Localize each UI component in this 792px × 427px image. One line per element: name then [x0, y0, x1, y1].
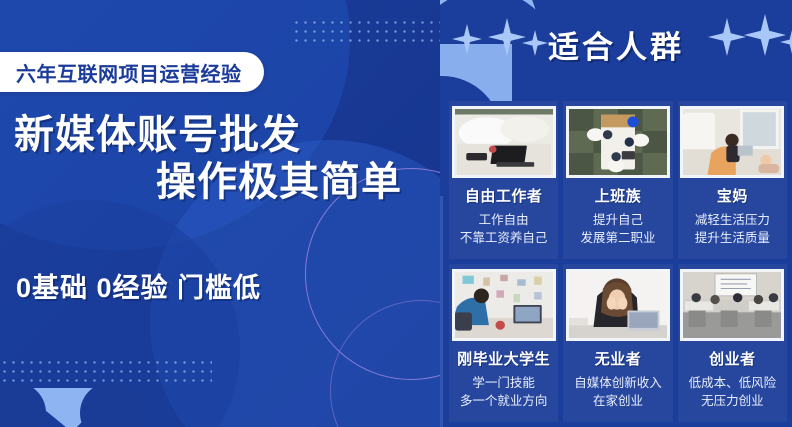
- left-panel: 六年互联网项目运营经验 新媒体账号批发 操作极其简单 0基础 0经验 门槛低: [0, 0, 440, 427]
- headline-line-1: 新媒体账号批发: [14, 112, 424, 159]
- card-description: 自媒体创新收入 在家创业: [574, 374, 662, 410]
- card-thumbnail-image: [680, 106, 784, 178]
- card-thumbnail-image: [452, 269, 556, 341]
- card-description-line-2: 在家创业: [574, 392, 662, 410]
- section-title: 适合人群: [440, 22, 792, 67]
- experience-badge-label: 六年互联网项目运营经验: [16, 58, 242, 87]
- card-title: 宝妈: [717, 185, 748, 206]
- audience-card-grid: 自由工作者 工作自由 不靠工资养自己: [449, 101, 787, 422]
- audience-card[interactable]: 自由工作者 工作自由 不靠工资养自己: [449, 101, 558, 259]
- card-title: 创业者: [709, 348, 756, 369]
- card-description: 工作自由 不靠工资养自己: [460, 211, 548, 247]
- card-thumbnail-image: [452, 106, 556, 178]
- card-description-line-2: 不靠工资养自己: [460, 229, 548, 247]
- audience-card[interactable]: 无业者 自媒体创新收入 在家创业: [563, 264, 672, 422]
- card-description-line-1: 减轻生活压力: [695, 211, 770, 229]
- card-description-line-2: 发展第二职业: [580, 229, 655, 247]
- card-description-line-1: 工作自由: [460, 211, 548, 229]
- card-description-line-2: 提升生活质量: [695, 229, 770, 247]
- card-thumbnail-image: [680, 269, 784, 341]
- card-description: 减轻生活压力 提升生活质量: [695, 211, 770, 247]
- card-title: 无业者: [595, 348, 642, 369]
- card-description-line-2: 无压力创业: [689, 392, 777, 410]
- card-title: 自由工作者: [465, 185, 543, 206]
- card-description-line-1: 自媒体创新收入: [574, 374, 662, 392]
- card-thumbnail-image: [566, 106, 670, 178]
- card-description: 低成本、低风险 无压力创业: [689, 374, 777, 410]
- card-description-line-1: 提升自己: [580, 211, 655, 229]
- dot-grid-pattern-top: [292, 18, 440, 48]
- headline-line-2: 操作极其简单: [14, 159, 424, 206]
- headline-block: 新媒体账号批发 操作极其简单: [14, 112, 424, 206]
- card-title: 上班族: [595, 185, 642, 206]
- card-description-line-1: 学一门技能: [460, 374, 548, 392]
- right-panel: 适合人群 自由工作者: [440, 0, 792, 427]
- card-description-line-1: 低成本、低风险: [689, 374, 777, 392]
- promo-poster: 六年互联网项目运营经验 新媒体账号批发 操作极其简单 0基础 0经验 门槛低 适…: [0, 0, 792, 427]
- audience-card[interactable]: 创业者 低成本、低风险 无压力创业: [678, 264, 787, 422]
- audience-card[interactable]: 刚毕业大学生 学一门技能 多一个就业方向: [449, 264, 558, 422]
- card-description: 提升自己 发展第二职业: [580, 211, 655, 247]
- card-description-line-2: 多一个就业方向: [460, 392, 548, 410]
- card-thumbnail-image: [566, 269, 670, 341]
- audience-card[interactable]: 上班族 提升自己 发展第二职业: [563, 101, 672, 259]
- triangle-accent-mask: [18, 388, 116, 427]
- audience-card[interactable]: 宝妈 减轻生活压力 提升生活质量: [678, 101, 787, 259]
- experience-badge: 六年互联网项目运营经验: [0, 52, 264, 92]
- subheadline-text: 0基础 0经验 门槛低: [16, 266, 261, 305]
- card-description: 学一门技能 多一个就业方向: [460, 374, 548, 410]
- card-title: 刚毕业大学生: [457, 348, 550, 369]
